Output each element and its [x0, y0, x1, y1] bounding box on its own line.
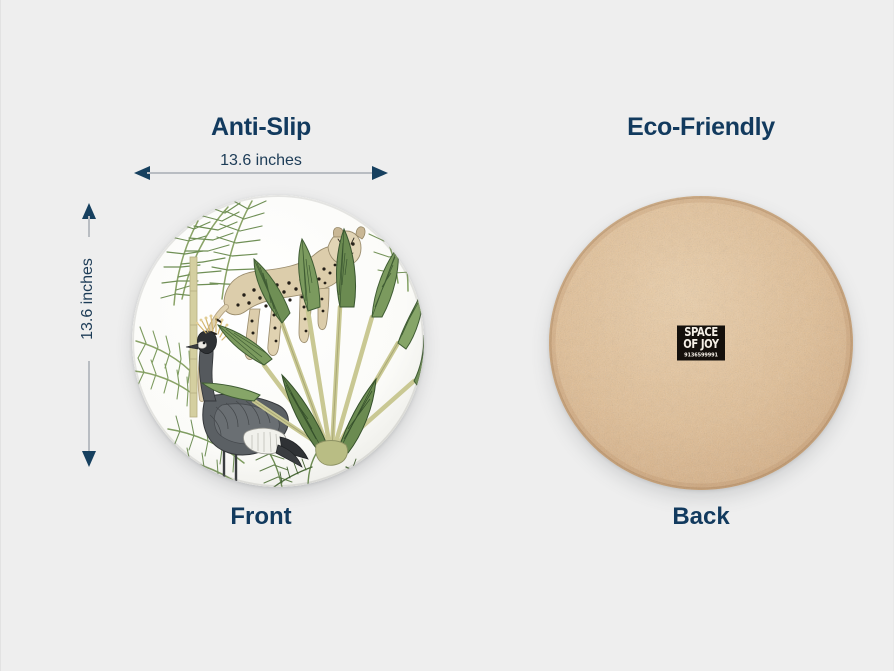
placemat-front-image — [132, 195, 424, 487]
dimension-line — [147, 172, 375, 174]
heading-eco-friendly: Eco-Friendly — [549, 113, 853, 142]
product-feature-graphic: Anti-Slip 13.6 inches 13.6 inches — [0, 0, 894, 671]
label-front: Front — [136, 503, 386, 531]
heading-anti-slip: Anti-Slip — [136, 113, 386, 142]
arrow-right-icon — [372, 166, 388, 180]
placemat-back-image: SPACE OF JOY 9136599991 — [549, 196, 853, 490]
dimension-width-label: 13.6 inches — [199, 152, 323, 170]
label-back: Back — [549, 503, 853, 531]
arrow-down-icon — [82, 451, 96, 467]
dimension-width-arrow: 13.6 inches — [134, 164, 388, 182]
brand-line-2: OF JOY — [680, 339, 722, 352]
brand-logo-stamp: SPACE OF JOY 9136599991 — [677, 326, 725, 361]
dimension-height-arrow: 13.6 inches — [80, 203, 98, 467]
tropical-jungle-artwork — [132, 195, 424, 487]
dimension-height-label: 13.6 inches — [77, 237, 99, 361]
brand-phone: 9136599991 — [680, 354, 722, 359]
